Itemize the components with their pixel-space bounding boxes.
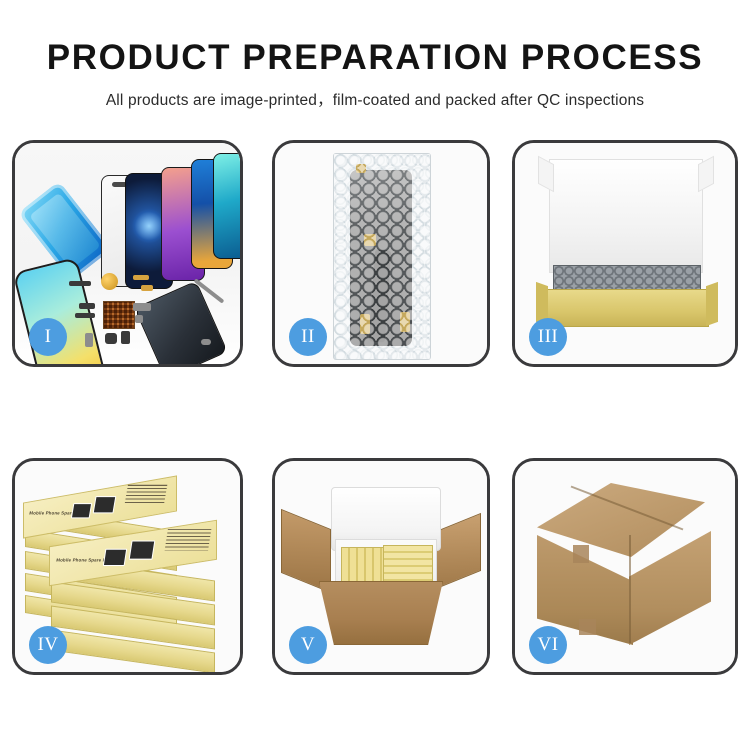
step-badge-6: VI xyxy=(529,626,567,664)
gold-connector-left xyxy=(360,314,370,334)
step-badge-2: II xyxy=(289,318,327,356)
step-badge-1: I xyxy=(29,318,67,356)
panel-stacked-boxes[interactable]: Mobile Phone Spare Parts Mobile Phone Sp… xyxy=(12,458,243,675)
gold-connector-mid xyxy=(364,234,376,246)
carton-edge-vertical xyxy=(629,535,631,643)
yellow-boxes-row-2 xyxy=(383,545,433,587)
part-screw-set xyxy=(201,339,211,345)
part-connector-1 xyxy=(133,303,151,311)
part-battery-tab xyxy=(85,333,93,347)
phone-screen-teal xyxy=(213,153,243,259)
part-flex-3 xyxy=(79,303,95,309)
box-label-thumb-front-1 xyxy=(103,549,127,566)
panel-open-carton-foam[interactable]: III xyxy=(512,140,738,367)
part-camera xyxy=(105,333,117,344)
panel-shipping-carton-packed[interactable]: V xyxy=(272,458,490,675)
carton-flap-left xyxy=(281,509,331,593)
part-flex-2 xyxy=(141,285,153,291)
process-grid: I II III xyxy=(0,0,750,750)
step-badge-5: V xyxy=(289,626,327,664)
box-label-lines-rear xyxy=(125,485,168,504)
box-label-lines-front xyxy=(165,529,212,550)
part-connector-2 xyxy=(135,315,143,323)
box-label-thumb-front-2 xyxy=(129,540,156,559)
carton-top-face xyxy=(537,483,705,557)
carton-tape-lower xyxy=(579,619,596,635)
box-label-thumb-rear-2 xyxy=(93,496,117,513)
ic-chip-array xyxy=(103,301,135,329)
bubble-wrap-bag xyxy=(333,153,431,360)
part-flex-4 xyxy=(75,313,95,318)
panel-bubble-wrapped-screen[interactable]: II xyxy=(272,140,490,367)
gold-connector-top xyxy=(356,164,366,173)
step-badge-3: III xyxy=(529,318,567,356)
white-box-lid xyxy=(549,159,703,273)
part-strip-1 xyxy=(69,281,91,286)
step-badge-4: IV xyxy=(29,626,67,664)
part-vibrator xyxy=(121,331,130,344)
panel-phone-parts[interactable]: I xyxy=(12,140,243,367)
speaker-component xyxy=(101,273,118,290)
panel-sealed-carton[interactable]: VI xyxy=(512,458,738,675)
yellow-box-base xyxy=(545,289,709,327)
part-flex-1 xyxy=(133,275,149,280)
carton-front-panel xyxy=(319,581,443,645)
carton-tape-upper xyxy=(573,545,589,563)
box-label-thumb-rear-1 xyxy=(71,503,92,518)
gold-connector-right xyxy=(400,312,410,332)
